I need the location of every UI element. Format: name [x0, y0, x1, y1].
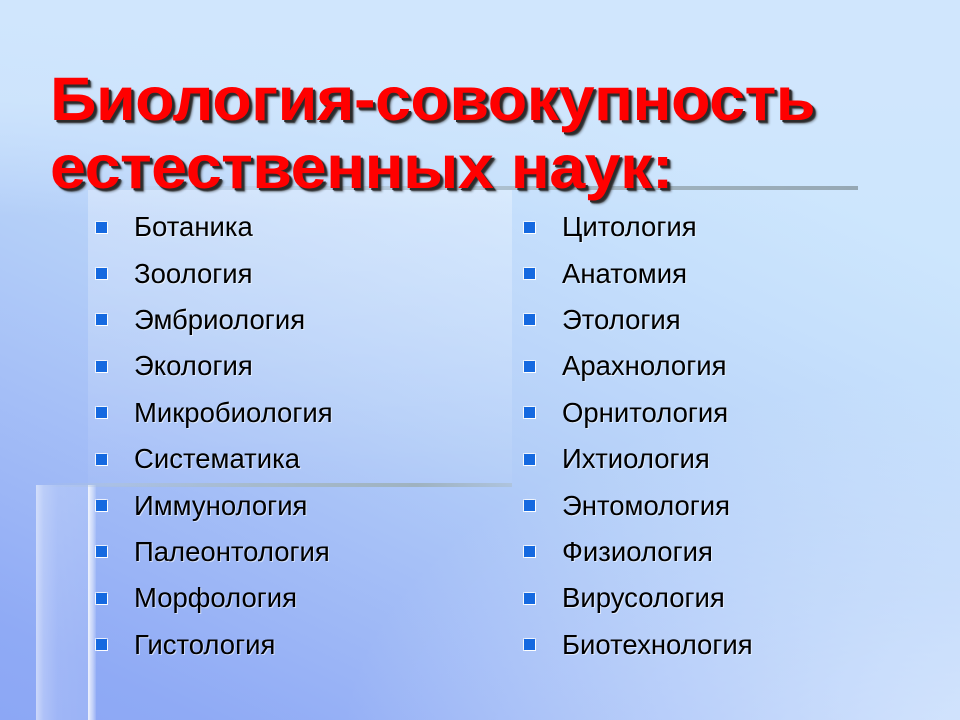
list-item[interactable]: Иммунология	[96, 482, 496, 528]
list-item[interactable]: Физиология	[524, 529, 924, 575]
list-item-label: Систематика	[134, 444, 300, 474]
science-list-right: Цитология Анатомия Этология Арахнология …	[524, 204, 924, 668]
square-bullet-icon	[524, 268, 535, 279]
list-item[interactable]: Арахнология	[524, 343, 924, 389]
science-list-left: Ботаника Зоология Эмбриология Экология М…	[96, 204, 496, 668]
page-title: Биология-совокупность естественных наук:	[50, 65, 960, 201]
square-bullet-icon	[524, 314, 535, 325]
square-bullet-icon	[524, 639, 535, 650]
list-item[interactable]: Биотехнология	[524, 622, 924, 668]
list-item-label: Ботаника	[134, 212, 253, 242]
square-bullet-icon	[524, 500, 535, 511]
decorative-vertical-band-outer	[36, 485, 90, 720]
list-item-label: Энтомология	[562, 491, 730, 521]
science-list-right-column: Цитология Анатомия Этология Арахнология …	[524, 204, 924, 668]
list-item-label: Гистология	[134, 630, 275, 660]
slide: Биология-совокупность естественных наук:…	[0, 0, 960, 720]
list-item[interactable]: Ихтиология	[524, 436, 924, 482]
square-bullet-icon	[96, 314, 107, 325]
square-bullet-icon	[524, 546, 535, 557]
list-item[interactable]: Морфология	[96, 575, 496, 621]
list-item-label: Орнитология	[562, 398, 728, 428]
list-item-label: Зоология	[134, 259, 253, 289]
square-bullet-icon	[96, 361, 107, 372]
list-item[interactable]: Систематика	[96, 436, 496, 482]
list-item-label: Этология	[562, 305, 681, 335]
list-item[interactable]: Эмбриология	[96, 297, 496, 343]
square-bullet-icon	[96, 454, 107, 465]
list-item-label: Цитология	[562, 212, 697, 242]
list-item-label: Иммунология	[134, 491, 307, 521]
list-item-label: Палеонтология	[134, 537, 330, 567]
square-bullet-icon	[96, 222, 107, 233]
list-item[interactable]: Вирусология	[524, 575, 924, 621]
square-bullet-icon	[524, 361, 535, 372]
list-item[interactable]: Экология	[96, 343, 496, 389]
list-item-label: Морфология	[134, 583, 297, 613]
square-bullet-icon	[524, 454, 535, 465]
square-bullet-icon	[96, 593, 107, 604]
square-bullet-icon	[96, 639, 107, 650]
list-item[interactable]: Энтомология	[524, 482, 924, 528]
list-item[interactable]: Анатомия	[524, 250, 924, 296]
list-item[interactable]: Палеонтология	[96, 529, 496, 575]
list-item[interactable]: Ботаника	[96, 204, 496, 250]
list-item-label: Эмбриология	[134, 305, 305, 335]
list-item-label: Анатомия	[562, 259, 687, 289]
list-item[interactable]: Зоология	[96, 250, 496, 296]
square-bullet-icon	[96, 546, 107, 557]
list-item-label: Вирусология	[562, 583, 725, 613]
square-bullet-icon	[524, 593, 535, 604]
list-item-label: Микробиология	[134, 398, 333, 428]
square-bullet-icon	[524, 222, 535, 233]
list-item-label: Арахнология	[562, 351, 727, 381]
list-item-label: Экология	[134, 351, 253, 381]
list-item[interactable]: Гистология	[96, 622, 496, 668]
list-item[interactable]: Цитология	[524, 204, 924, 250]
list-item-label: Биотехнология	[562, 630, 753, 660]
list-item[interactable]: Микробиология	[96, 390, 496, 436]
square-bullet-icon	[524, 407, 535, 418]
list-item-label: Ихтиология	[562, 444, 710, 474]
list-item[interactable]: Этология	[524, 297, 924, 343]
list-item[interactable]: Орнитология	[524, 390, 924, 436]
square-bullet-icon	[96, 500, 107, 511]
square-bullet-icon	[96, 268, 107, 279]
science-list-left-column: Ботаника Зоология Эмбриология Экология М…	[96, 204, 496, 668]
square-bullet-icon	[96, 407, 107, 418]
list-item-label: Физиология	[562, 537, 713, 567]
decorative-vertical-band-inner	[88, 485, 96, 720]
